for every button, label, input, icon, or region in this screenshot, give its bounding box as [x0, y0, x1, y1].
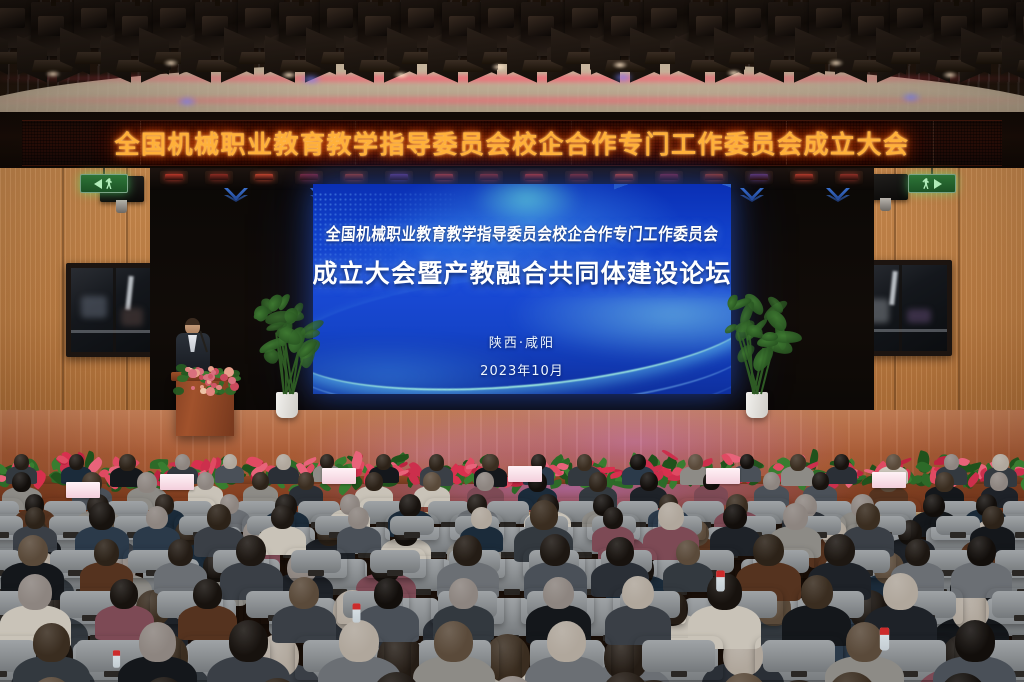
potted-palm-right	[722, 296, 792, 418]
audience-member-head	[676, 540, 700, 565]
truss-par-lamp	[700, 171, 728, 184]
led-banner-text: 全国机械职业教育教学指导委员会校企合作专门工作委员会成立大会	[114, 125, 909, 161]
auditorium-seat	[285, 548, 346, 578]
flower-bloom	[188, 369, 197, 378]
flower-bloom	[206, 387, 215, 396]
delegate-name-card	[322, 468, 356, 484]
audience-member-head	[229, 620, 269, 662]
audience-member-head	[688, 454, 704, 470]
truss-chevron-light	[826, 188, 850, 204]
audience-member-head	[423, 472, 441, 491]
auditorium-seat	[385, 514, 438, 540]
audience-member-head	[606, 537, 633, 566]
audience-member-head	[453, 535, 482, 566]
flower-bloom	[185, 367, 190, 372]
audience-member-head	[883, 573, 918, 610]
truss-par-lamp	[835, 171, 863, 184]
audience-member-head	[18, 574, 52, 610]
delegate-name-card	[872, 472, 906, 488]
truss-par-lamp	[205, 171, 233, 184]
audience-member-head	[471, 507, 491, 529]
audience-member-head	[856, 503, 881, 529]
screen-title-line2: 成立大会暨产教融合共同体建设论坛	[313, 254, 731, 290]
audience-member-head	[276, 454, 291, 470]
audience-member-head	[376, 454, 391, 470]
audience-member-head	[589, 472, 607, 492]
ceiling-downlight	[163, 59, 179, 67]
audience-member-head	[89, 502, 115, 529]
audience-member-head	[25, 507, 45, 529]
truss-par-lamp	[655, 171, 683, 184]
audience-member-head	[740, 454, 754, 469]
ceiling-downlight	[393, 71, 409, 79]
ceiling-blue-accent-light	[300, 74, 322, 85]
audience-member-head	[982, 506, 1004, 529]
audience-member-head	[905, 539, 930, 566]
truss-par-lamp	[745, 171, 773, 184]
podium-flower-arrangement	[172, 358, 240, 394]
ceiling-downlight	[45, 70, 61, 78]
truss-par-lamp	[610, 171, 638, 184]
truss-par-lamp	[160, 171, 188, 184]
audience-member-head	[197, 472, 214, 490]
audience-member-head	[33, 623, 69, 662]
ceiling-downlight	[491, 63, 507, 71]
audience-member-head	[658, 502, 685, 530]
delegate-name-card	[66, 482, 100, 498]
audience-member-head	[801, 575, 834, 610]
audience-member-head	[207, 504, 231, 529]
auditorium-seat	[986, 588, 1024, 624]
audience-member-head	[992, 454, 1008, 471]
potted-palm-left	[252, 296, 322, 418]
audience-member-head	[137, 472, 156, 493]
audience-member-head	[763, 472, 780, 490]
water-bottle	[113, 650, 120, 668]
audience-member-head	[175, 454, 190, 470]
audience-member-head	[944, 454, 959, 470]
audience-member-head	[753, 534, 784, 567]
audience-member-head	[476, 472, 494, 491]
flower-bloom	[220, 374, 227, 381]
exit-sign-right	[908, 174, 956, 193]
truss-par-lamp	[790, 171, 818, 184]
truss-par-lamp	[340, 171, 368, 184]
ceiling-blue-accent-light	[612, 72, 634, 83]
audience-member-head	[886, 454, 901, 470]
audience-member-head	[168, 539, 193, 566]
audience-member-head	[298, 472, 315, 490]
audience-member-head	[236, 535, 266, 567]
audience-member-head	[790, 454, 806, 471]
water-bottle	[353, 603, 361, 622]
auditorium-seat	[365, 548, 426, 578]
audience-member-head	[252, 472, 269, 490]
audience-member-head	[374, 578, 403, 609]
audience-member-head	[935, 472, 954, 492]
audience-member-head	[14, 454, 29, 470]
audience-member-head	[193, 579, 221, 609]
audience-member-head	[955, 620, 995, 662]
screen-date: 2023年10月	[480, 360, 564, 379]
audience-member-head	[289, 577, 319, 609]
audience-member-head	[223, 454, 237, 469]
audience-member-head	[967, 536, 996, 566]
flower-bloom	[191, 386, 195, 390]
ceiling-downlight	[942, 71, 958, 79]
audience-member-head	[834, 454, 849, 470]
exit-sign-left	[80, 174, 128, 193]
audience-member-head	[990, 472, 1008, 491]
audience-member-head	[622, 576, 654, 610]
audience-member-head	[365, 472, 383, 491]
audience-member-head	[640, 472, 658, 491]
led-banner: 全国机械职业教育教学指导委员会校企合作专门工作委员会成立大会	[22, 120, 1002, 166]
water-bottle	[716, 570, 725, 591]
audience-member-head	[547, 621, 586, 662]
ceiling-downlight	[726, 69, 742, 77]
flower-bloom	[203, 375, 208, 380]
flower-bloom	[228, 377, 236, 385]
truss-chevron-light	[740, 188, 764, 204]
projection-screen: 全国机械职业教育教学指导委员会校企合作专门工作委员会 成立大会暨产教融合共同体建…	[313, 184, 731, 394]
auditorium-photo: 全国机械职业教育教学指导委员会校企合作专门工作委员会成立大会	[0, 0, 1024, 682]
delegate-name-card	[160, 474, 194, 490]
truss-par-lamp	[295, 171, 323, 184]
auditorium-seat	[634, 636, 723, 680]
arrow-right-icon	[934, 179, 942, 189]
audience-member-head	[110, 579, 138, 609]
audience-member-head	[812, 472, 829, 490]
flower-bloom	[208, 374, 213, 379]
audience-member-head	[846, 622, 883, 662]
audience-member-head	[824, 534, 854, 566]
audience-member-head	[146, 506, 168, 530]
screen-location: 陕西·咸阳	[489, 332, 555, 351]
audience-member-head	[530, 500, 558, 530]
flower-foliage	[173, 387, 184, 395]
ceiling-blue-accent-light	[176, 96, 198, 107]
audience-member-head	[434, 621, 473, 662]
audience-member-head	[723, 504, 747, 529]
audience-member-head	[783, 503, 808, 529]
audience-member-head	[94, 539, 119, 566]
audience-member-head	[540, 534, 570, 566]
ceiling-downlight	[612, 61, 628, 69]
flower-foliage	[177, 375, 187, 382]
audience-member-head	[449, 578, 478, 609]
running-person-icon-right	[922, 178, 931, 189]
audience-member-head	[119, 454, 135, 471]
audience-member-head	[339, 620, 379, 662]
audience-member-head	[577, 454, 593, 471]
truss-par-lamp	[430, 171, 458, 184]
audience-member-head	[543, 577, 574, 609]
truss-par-lamp	[385, 171, 413, 184]
screen-title-line1: 全国机械职业教育教学指导委员会校企合作专门工作委员会	[325, 221, 719, 246]
audience-member-head	[429, 454, 445, 471]
ceiling-blue-accent-light	[900, 92, 922, 103]
audience-member-head	[271, 505, 294, 529]
audience-member-head	[12, 472, 31, 492]
audience-member-head	[69, 454, 84, 470]
audience-member-head	[139, 622, 176, 662]
screen-text-block: 全国机械职业教育教学指导委员会校企合作专门工作委员会 成立大会暨产教融合共同体建…	[313, 184, 731, 394]
ceiling-downlight	[828, 59, 844, 67]
truss-par-lamp	[475, 171, 503, 184]
audience-member-head	[482, 454, 498, 471]
delegate-name-card	[706, 468, 740, 484]
audience-member-head	[630, 454, 645, 470]
truss-par-lamp	[250, 171, 278, 184]
truss-chevron-light	[224, 188, 248, 204]
running-person-icon	[105, 178, 114, 189]
truss-par-lamp	[520, 171, 548, 184]
lighting-rig	[0, 0, 1024, 118]
arrow-left-icon	[94, 179, 102, 189]
stage-light-fixture	[1016, 2, 1024, 56]
truss-par-lamp	[565, 171, 593, 184]
water-bottle	[880, 628, 889, 651]
audience-member-head	[603, 507, 623, 529]
audience-member-head	[18, 535, 48, 567]
audience-member-head	[348, 507, 369, 530]
delegate-name-card	[508, 466, 542, 482]
audience-member-head	[320, 454, 334, 469]
